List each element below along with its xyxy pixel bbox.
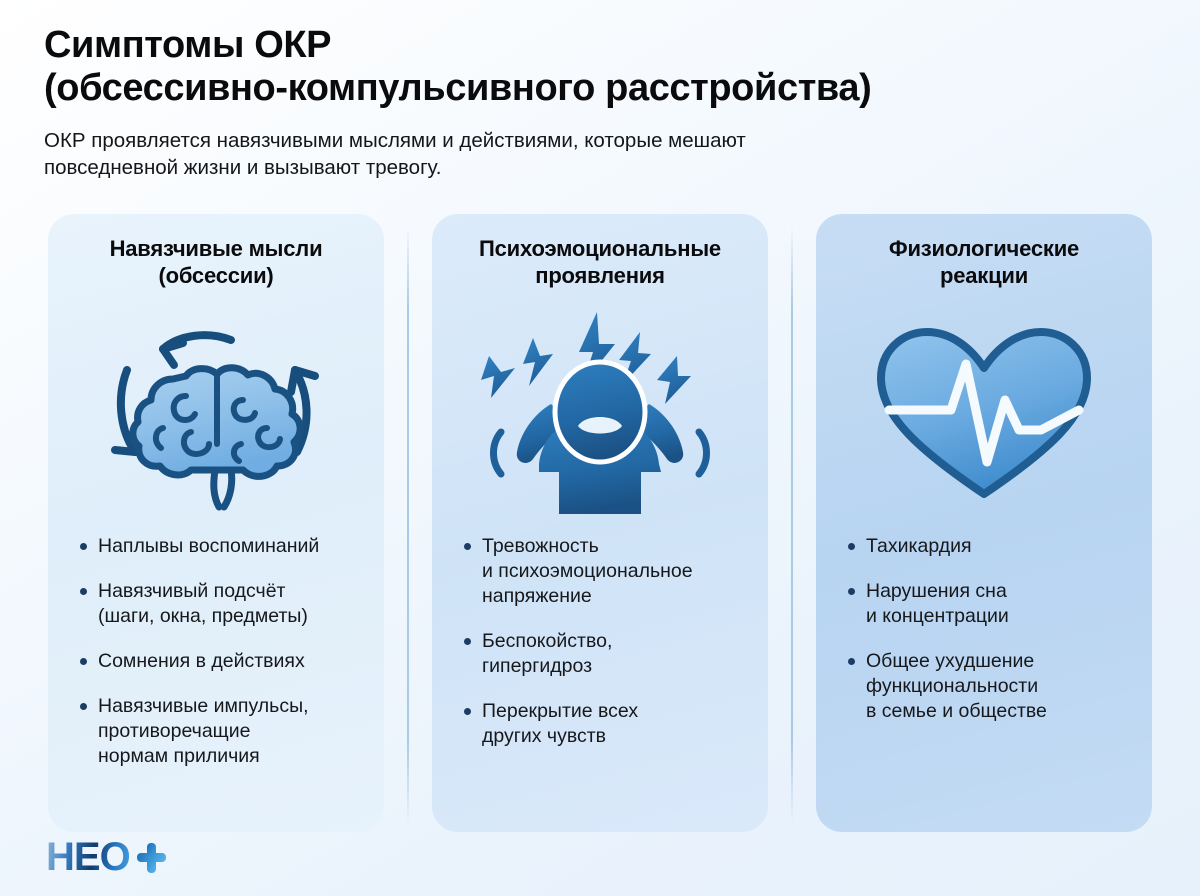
bullet-dot-icon xyxy=(848,658,855,665)
bullet-dot-icon xyxy=(464,638,471,645)
brand-logo-text: НЕО xyxy=(46,835,130,880)
heart-pulse-icon-wrap xyxy=(842,292,1126,530)
bullet-text: Общее ухудшение функциональности в семье… xyxy=(866,649,1047,724)
brain-cycle-icon xyxy=(91,304,341,519)
card-title-obsessions: Навязчивые мысли (обсессии) xyxy=(74,236,358,292)
bullet-dot-icon xyxy=(848,543,855,550)
card-obsessions: Навязчивые мысли (обсессии) xyxy=(48,214,384,832)
subtitle-line-1: ОКР проявляется навязчивыми мыслями и де… xyxy=(44,127,1074,154)
title-line-1: Симптомы ОКР xyxy=(44,24,1156,67)
brand-logo: НЕО xyxy=(46,835,166,880)
bullet-text: Беспокойство, гипергидроз xyxy=(482,629,612,679)
list-item: Навязчивые импульсы, противоречащие норм… xyxy=(80,694,358,769)
card-divider-1 xyxy=(407,226,409,824)
bullet-text: Перекрытие всех других чувств xyxy=(482,699,638,749)
bullet-dot-icon xyxy=(464,543,471,550)
bullet-text: Тахикардия xyxy=(866,534,972,559)
card-title-line-1: Навязчивые мысли xyxy=(74,236,358,263)
list-item: Наплывы воспоминаний xyxy=(80,534,358,559)
bullet-dot-icon xyxy=(464,708,471,715)
bullet-dot-icon xyxy=(80,703,87,710)
card-title-psychoemotional: Психоэмоциональные проявления xyxy=(458,236,742,292)
stressed-person-icon xyxy=(475,304,725,519)
stressed-person-icon-wrap xyxy=(458,292,742,530)
card-title-line-2: проявления xyxy=(458,263,742,290)
card-title-line-1: Психоэмоциональные xyxy=(458,236,742,263)
bullet-text: Наплывы воспоминаний xyxy=(98,534,319,559)
bullet-text: Нарушения сна и концентрации xyxy=(866,579,1009,629)
subtitle-line-2: повседневной жизни и вызывают тревогу. xyxy=(44,154,1074,181)
bullet-dot-icon xyxy=(80,658,87,665)
title-line-2: (обсессивно-компульсивного расстройства) xyxy=(44,67,1156,110)
bullet-text: Тревожность и психоэмоциональное напряже… xyxy=(482,534,693,609)
bullet-text: Сомнения в действиях xyxy=(98,649,305,674)
brain-cycle-icon-wrap xyxy=(74,292,358,530)
bullet-dot-icon xyxy=(848,588,855,595)
list-item: Перекрытие всех других чувств xyxy=(464,699,742,749)
bullet-list-physiological: Тахикардия Нарушения сна и концентрации … xyxy=(842,534,1126,724)
list-item: Беспокойство, гипергидроз xyxy=(464,629,742,679)
symptom-cards-row: Навязчивые мысли (обсессии) xyxy=(48,214,1152,832)
list-item: Тахикардия xyxy=(848,534,1126,559)
heart-pulse-icon xyxy=(859,304,1109,519)
plus-icon xyxy=(136,843,166,873)
bullet-list-psychoemotional: Тревожность и психоэмоциональное напряже… xyxy=(458,534,742,749)
bullet-text: Навязчивый подсчёт (шаги, окна, предметы… xyxy=(98,579,308,629)
header: Симптомы ОКР (обсессивно-компульсивного … xyxy=(0,0,1200,181)
bullet-list-obsessions: Наплывы воспоминаний Навязчивый подсчёт … xyxy=(74,534,358,769)
page-title: Симптомы ОКР (обсессивно-компульсивного … xyxy=(44,24,1156,111)
bullet-text: Навязчивые импульсы, противоречащие норм… xyxy=(98,694,309,769)
card-divider-2 xyxy=(791,226,793,824)
card-title-line-2: (обсессии) xyxy=(74,263,358,290)
page-subtitle: ОКР проявляется навязчивыми мыслями и де… xyxy=(44,127,1074,181)
card-psychoemotional: Психоэмоциональные проявления xyxy=(432,214,768,832)
card-title-line-2: реакции xyxy=(842,263,1126,290)
list-item: Нарушения сна и концентрации xyxy=(848,579,1126,629)
bullet-dot-icon xyxy=(80,588,87,595)
bullet-dot-icon xyxy=(80,543,87,550)
list-item: Общее ухудшение функциональности в семье… xyxy=(848,649,1126,724)
list-item: Навязчивый подсчёт (шаги, окна, предметы… xyxy=(80,579,358,629)
card-title-physiological: Физиологические реакции xyxy=(842,236,1126,292)
list-item: Сомнения в действиях xyxy=(80,649,358,674)
card-title-line-1: Физиологические xyxy=(842,236,1126,263)
card-physiological: Физиологические реакции Тахи xyxy=(816,214,1152,832)
list-item: Тревожность и психоэмоциональное напряже… xyxy=(464,534,742,609)
